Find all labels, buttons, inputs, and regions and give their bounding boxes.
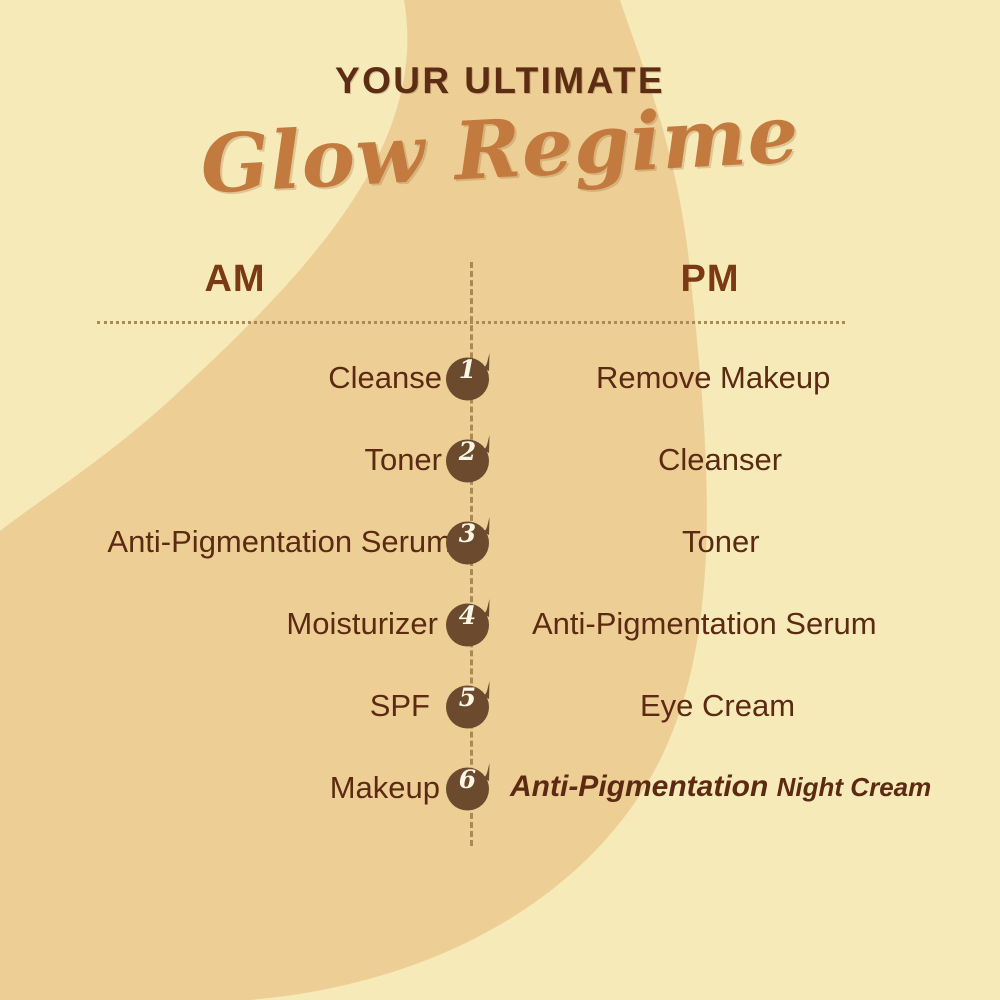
- step-badge-3: 3: [443, 513, 499, 569]
- am-step-label: Cleanse: [328, 362, 442, 393]
- pm-step-label: Toner: [682, 526, 760, 557]
- routine-row: Cleanse 1 Remove Makeup: [0, 336, 1000, 418]
- routine-rows: Cleanse 1 Remove Makeup Toner 2 Cleanser: [0, 336, 1000, 828]
- am-step-label: SPF: [370, 690, 430, 721]
- pm-step-label: Anti-Pigmentation Serum: [532, 608, 877, 639]
- step-badge-6: 6: [443, 759, 499, 815]
- routine-row: Anti-Pigmentation Serum 3 Toner: [0, 500, 1000, 582]
- pm-featured-tail: Night Cream: [777, 772, 932, 802]
- am-step-label: Toner: [364, 444, 442, 475]
- step-badge-4: 4: [443, 595, 499, 651]
- column-heading-pm: PM: [650, 258, 770, 301]
- am-step-label: Makeup: [330, 772, 440, 803]
- am-step-label: Moisturizer: [286, 608, 438, 639]
- pm-step-label-featured: Anti-Pigmentation Night Cream: [510, 772, 931, 802]
- pm-step-label: Cleanser: [658, 444, 782, 475]
- pm-featured-lead: Anti-Pigmentation: [510, 770, 768, 803]
- column-heading-am: AM: [175, 258, 295, 301]
- step-badge-2: 2: [443, 431, 499, 487]
- routine-row: SPF 5 Eye Cream: [0, 664, 1000, 746]
- pm-step-label: Remove Makeup: [596, 362, 830, 393]
- routine-row: Toner 2 Cleanser: [0, 418, 1000, 500]
- horizontal-dotted-divider: [97, 321, 845, 324]
- pm-step-label: Eye Cream: [640, 690, 795, 721]
- routine-row: Makeup 6 Anti-Pigmentation Night Cream: [0, 746, 1000, 828]
- glow-regime-poster: YOUR ULTIMATE Glow Regime AM PM Cleanse …: [0, 0, 1000, 1000]
- poster-title: YOUR ULTIMATE Glow Regime: [0, 62, 1000, 195]
- step-badge-1: 1: [443, 349, 499, 405]
- step-badge-5: 5: [443, 677, 499, 733]
- routine-row: Moisturizer 4 Anti-Pigmentation Serum: [0, 582, 1000, 664]
- am-step-label: Anti-Pigmentation Serum: [107, 526, 452, 557]
